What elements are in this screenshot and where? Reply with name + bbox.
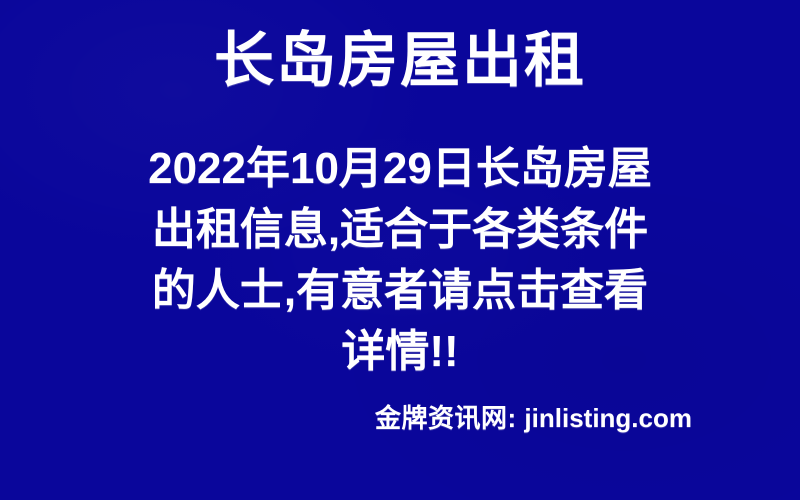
footer-site-url: jinlisting.com xyxy=(524,403,692,433)
footer-attribution: 金牌资讯网: jinlisting.com xyxy=(0,402,800,434)
announcement-body: 2022年10月29日长岛房屋 出租信息,适合于各类条件 的人士,有意者请点击查… xyxy=(60,138,740,382)
footer-site-label: 金牌资讯网: xyxy=(375,403,517,433)
body-line-2: 出租信息,适合于各类条件 xyxy=(60,199,740,260)
poster-canvas: 长岛房屋出租 2022年10月29日长岛房屋 出租信息,适合于各类条件 的人士,… xyxy=(0,0,800,500)
body-line-4: 详情!! xyxy=(60,321,740,382)
body-line-3: 的人士,有意者请点击查看 xyxy=(60,260,740,321)
page-title: 长岛房屋出租 xyxy=(0,26,800,96)
body-line-1: 2022年10月29日长岛房屋 xyxy=(60,138,740,199)
